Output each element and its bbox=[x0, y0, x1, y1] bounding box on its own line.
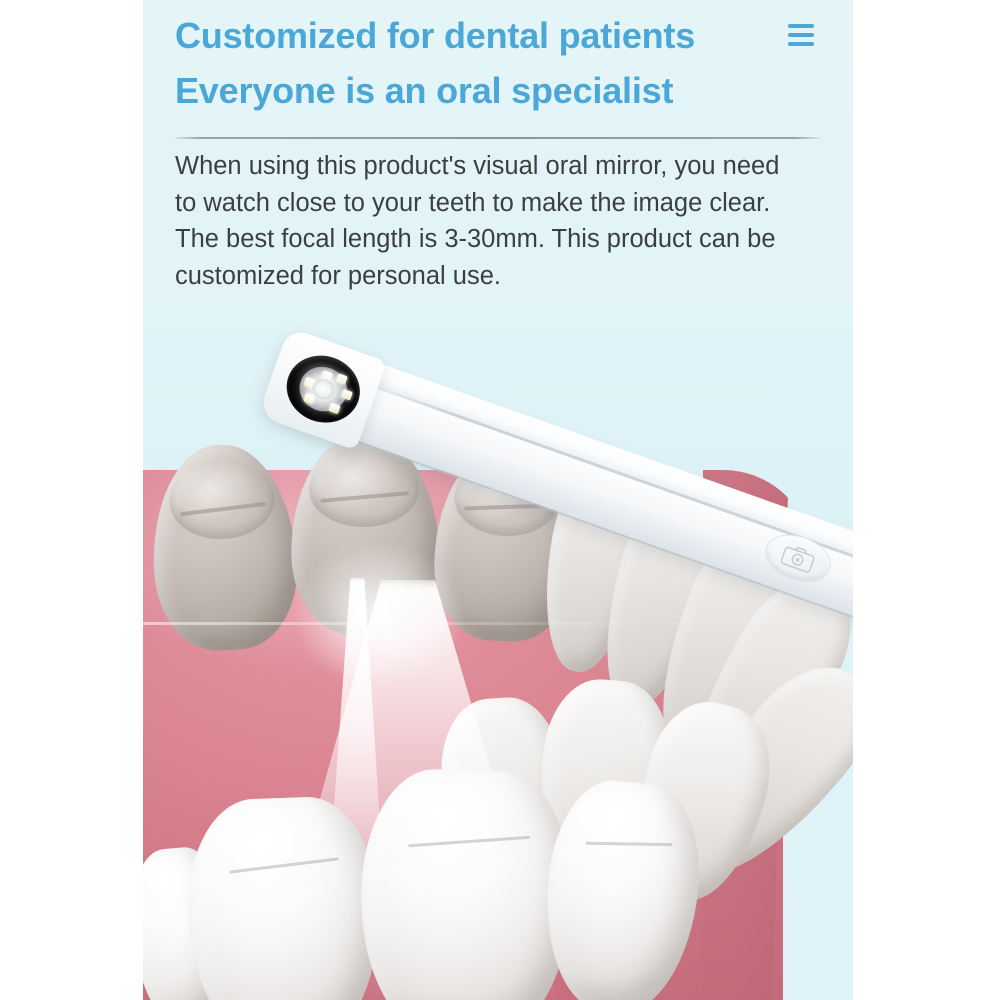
description-line-2: to watch close to your teeth to make the… bbox=[175, 185, 835, 222]
dental-illustration bbox=[143, 250, 853, 1000]
lens-bezel-ring bbox=[277, 346, 369, 433]
led-board bbox=[293, 360, 353, 417]
tooth-highlight bbox=[383, 779, 553, 874]
camera-shutter-icon bbox=[779, 543, 817, 574]
led-light-6 bbox=[328, 403, 340, 415]
menu-bar-top bbox=[788, 24, 814, 28]
gum-scan-line bbox=[143, 622, 783, 625]
front-molar-1 bbox=[185, 795, 384, 1000]
product-info-page: Customized for dental patients Everyone … bbox=[0, 0, 1000, 1000]
lens-glow bbox=[293, 540, 463, 690]
headline-line-1: Customized for dental patients bbox=[175, 8, 835, 63]
headline-block: Customized for dental patients Everyone … bbox=[175, 8, 835, 118]
tooth-highlight bbox=[204, 805, 359, 896]
description-line-1: When using this product's visual oral mi… bbox=[175, 148, 835, 185]
hamburger-menu-icon[interactable] bbox=[788, 24, 814, 46]
led-light-2 bbox=[335, 373, 347, 385]
tinted-content-panel: Customized for dental patients Everyone … bbox=[143, 0, 853, 1000]
tooth-highlight bbox=[565, 785, 693, 875]
menu-bar-bottom bbox=[788, 42, 814, 46]
header-divider bbox=[175, 137, 820, 139]
menu-bar-middle bbox=[788, 33, 814, 37]
front-molar-2 bbox=[359, 768, 574, 1000]
led-light-4 bbox=[341, 389, 353, 401]
headline-line-2: Everyone is an oral specialist bbox=[175, 63, 835, 118]
molar-cusp bbox=[167, 459, 277, 542]
